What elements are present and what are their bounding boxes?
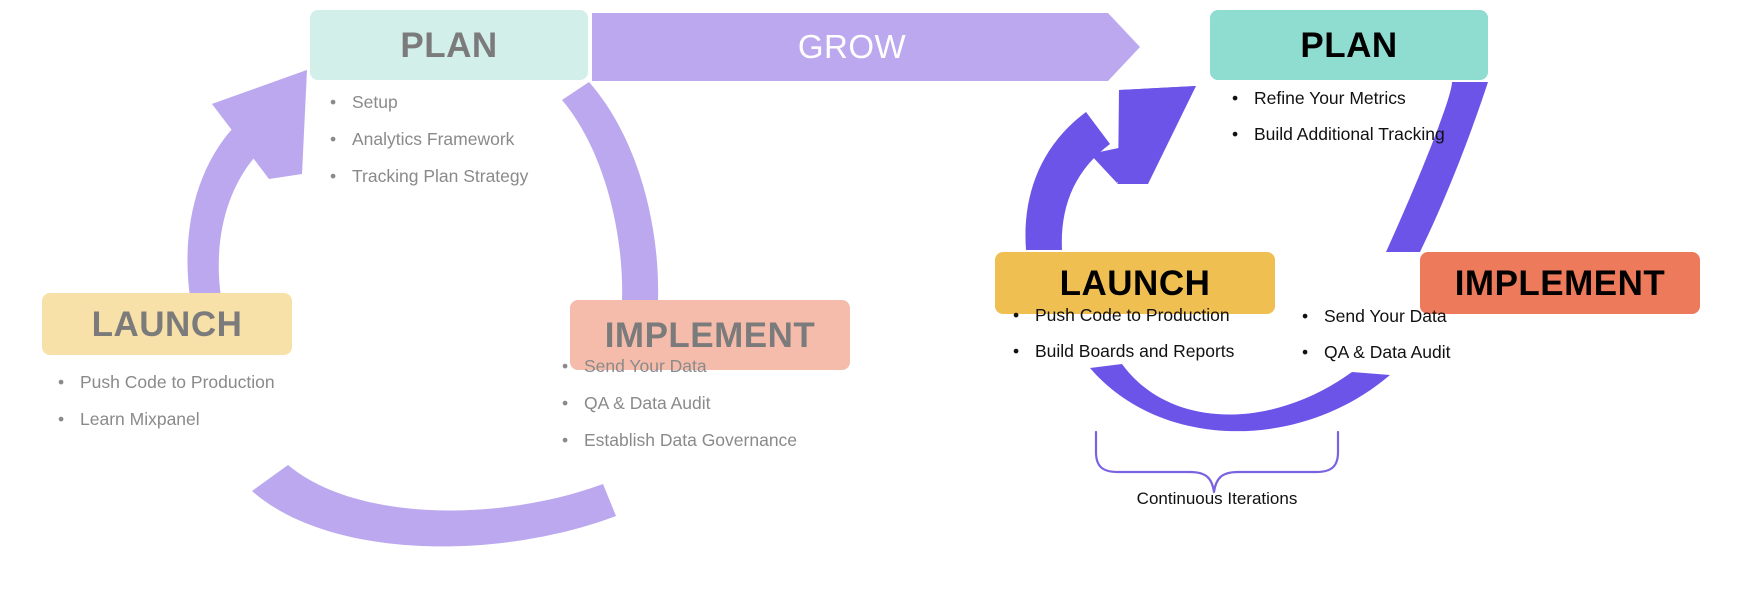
list-item: • Build Additional Tracking xyxy=(1232,124,1572,145)
bullet-icon: • xyxy=(330,129,352,150)
right-implement-box[interactable]: IMPLEMENT xyxy=(1420,252,1700,314)
grow-banner: GROW xyxy=(592,13,1140,81)
left-implement-title: IMPLEMENT xyxy=(605,318,816,353)
bullet-icon: • xyxy=(562,393,584,414)
bullet-icon: • xyxy=(1013,305,1035,326)
list-item: • Setup xyxy=(330,92,660,113)
left-plan-item-2: Tracking Plan Strategy xyxy=(352,166,528,187)
bullet-icon: • xyxy=(1013,341,1035,362)
left-plan-item-0: Setup xyxy=(352,92,398,113)
bullet-icon: • xyxy=(330,166,352,187)
list-item: • Push Code to Production xyxy=(58,372,388,393)
left-plan-bullets: • Setup • Analytics Framework • Tracking… xyxy=(330,92,660,203)
left-plan-title: PLAN xyxy=(400,28,497,63)
list-item: • Learn Mixpanel xyxy=(58,409,388,430)
right-launch-item-0: Push Code to Production xyxy=(1035,305,1230,326)
bullet-icon: • xyxy=(1232,124,1254,145)
list-item: • Push Code to Production xyxy=(1013,305,1353,326)
left-implement-item-2: Establish Data Governance xyxy=(584,430,797,451)
right-launch-bullets: • Push Code to Production • Build Boards… xyxy=(1013,305,1353,377)
list-item: • Tracking Plan Strategy xyxy=(330,166,660,187)
list-item: • Establish Data Governance xyxy=(562,430,922,451)
bullet-icon: • xyxy=(1232,88,1254,109)
right-plan-item-1: Build Additional Tracking xyxy=(1254,124,1445,145)
left-plan-box[interactable]: PLAN xyxy=(310,10,588,80)
left-plan-item-1: Analytics Framework xyxy=(352,129,514,150)
left-arrow-launch-to-plan xyxy=(187,70,307,327)
left-implement-bullets: • Send Your Data • QA & Data Audit • Est… xyxy=(562,356,922,467)
bullet-icon: • xyxy=(58,409,80,430)
bullet-icon: • xyxy=(562,356,584,377)
left-launch-item-0: Push Code to Production xyxy=(80,372,275,393)
left-launch-bullets: • Push Code to Production • Learn Mixpan… xyxy=(58,372,388,446)
right-implement-title: IMPLEMENT xyxy=(1455,266,1666,301)
right-plan-item-0: Refine Your Metrics xyxy=(1254,88,1406,109)
right-plan-box[interactable]: PLAN xyxy=(1210,10,1488,80)
continuous-iterations-label: Continuous Iterations xyxy=(1096,489,1338,509)
right-launch-title: LAUNCH xyxy=(1060,266,1211,301)
list-item: • QA & Data Audit xyxy=(562,393,922,414)
left-curve-implement-to-launch xyxy=(252,465,616,546)
list-item: • Send Your Data xyxy=(562,356,922,377)
list-item: • Analytics Framework xyxy=(330,129,660,150)
left-launch-item-1: Learn Mixpanel xyxy=(80,409,200,430)
right-launch-item-1: Build Boards and Reports xyxy=(1035,341,1234,362)
right-plan-title: PLAN xyxy=(1300,28,1397,63)
diagram-canvas: GROW PLAN • Setup • Analytics Framework … xyxy=(0,0,1740,589)
bullet-icon: • xyxy=(330,92,352,113)
left-implement-item-0: Send Your Data xyxy=(584,356,707,377)
bullet-icon: • xyxy=(58,372,80,393)
list-item: • Build Boards and Reports xyxy=(1013,341,1353,362)
left-launch-title: LAUNCH xyxy=(92,307,243,342)
bullet-icon: • xyxy=(562,430,584,451)
continuous-iterations-brace xyxy=(1096,432,1338,492)
left-implement-item-1: QA & Data Audit xyxy=(584,393,710,414)
grow-label: GROW xyxy=(798,28,906,66)
right-arrow-launch-to-plan xyxy=(1025,86,1196,250)
right-plan-bullets: • Refine Your Metrics • Build Additional… xyxy=(1232,88,1572,160)
left-launch-box[interactable]: LAUNCH xyxy=(42,293,292,355)
list-item: • Refine Your Metrics xyxy=(1232,88,1572,109)
